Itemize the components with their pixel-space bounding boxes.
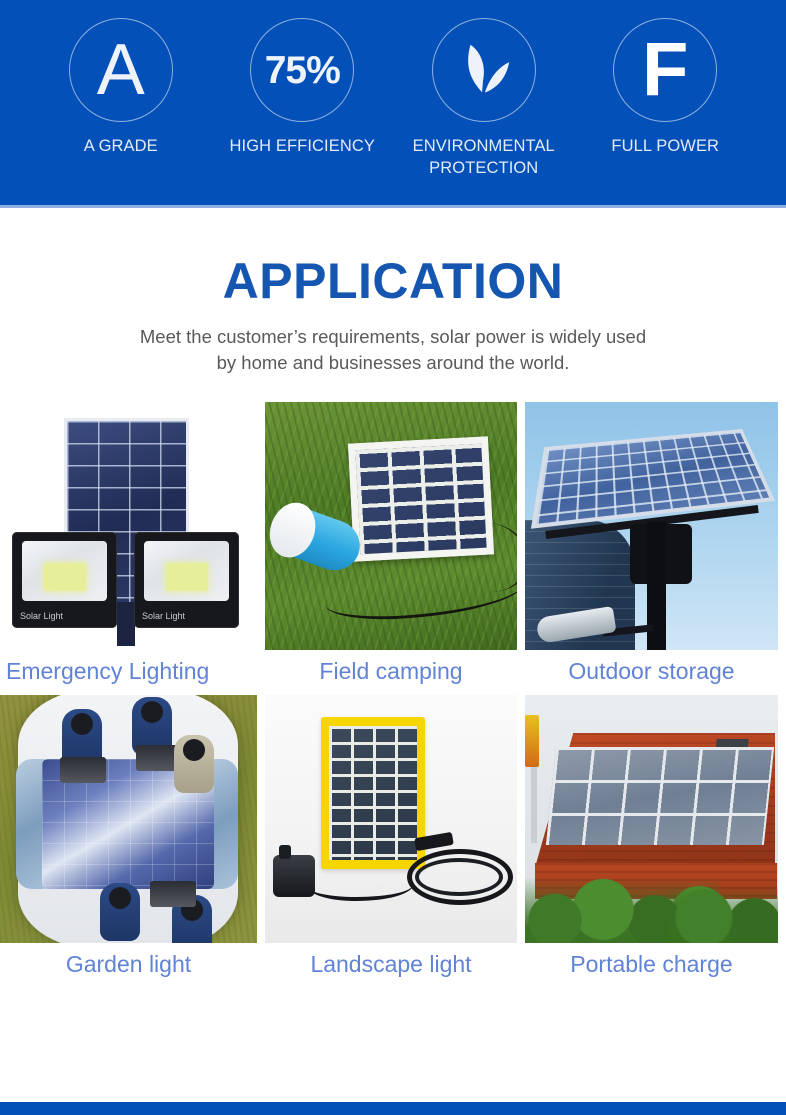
gallery-item-garden-light[interactable]: Garden light	[0, 695, 257, 988]
laptop-graphic-3	[150, 881, 196, 907]
feature-circle-a-grade: A	[69, 18, 173, 122]
floodlight-label-left: Solar Light	[20, 611, 63, 621]
feature-label-full-power: FULL POWER	[611, 135, 719, 157]
feature-item-full-power: F FULL POWER	[575, 18, 757, 157]
feature-item-a-grade: A A GRADE	[30, 18, 212, 157]
feature-banner: A A GRADE 75% HIGH EFFICIENCY ENVIRONMEN…	[0, 0, 786, 205]
photo-portable-charge	[525, 695, 778, 943]
letter-a-icon: A	[97, 34, 145, 106]
gallery-item-portable-charge[interactable]: Portable charge	[525, 695, 778, 988]
photo-landscape-light	[265, 695, 517, 943]
feature-item-environmental-protection: ENVIRONMENTAL PROTECTION	[393, 18, 575, 180]
bottom-accent-bar	[0, 1102, 786, 1115]
panel-stand-graphic	[117, 602, 135, 646]
floodlight-right-graphic: Solar Light	[134, 532, 239, 628]
laptop-graphic-1	[60, 757, 106, 783]
gallery-row-2: Garden light Landscape light	[0, 695, 786, 988]
gallery-item-landscape-light[interactable]: Landscape light	[265, 695, 517, 988]
application-gallery: Solar Light Solar Light Emergency Lighti…	[0, 402, 786, 988]
water-pump-graphic	[273, 855, 315, 897]
feature-item-high-efficiency: 75% HIGH EFFICIENCY	[212, 18, 394, 157]
caption-field-camping: Field camping	[265, 650, 517, 695]
person-graphic-4	[100, 883, 140, 941]
photo-garden-light	[0, 695, 257, 943]
floodlight-left-graphic: Solar Light	[12, 532, 117, 628]
floodlight-label-right: Solar Light	[142, 611, 185, 621]
caption-portable-charge: Portable charge	[525, 943, 778, 988]
caption-landscape-light: Landscape light	[265, 943, 517, 988]
roof-solar-panels-graphic	[546, 747, 774, 845]
solar-panel-graphic	[348, 436, 494, 561]
bush-graphic-right	[668, 885, 778, 943]
caption-garden-light: Garden light	[0, 943, 257, 988]
photo-field-camping	[265, 402, 517, 650]
person-graphic-3	[174, 735, 214, 793]
photo-outdoor-storage	[525, 402, 778, 650]
feature-circle-full-power: F	[613, 18, 717, 122]
feature-label-high-efficiency: HIGH EFFICIENCY	[230, 135, 375, 157]
letter-f-icon: F	[642, 32, 688, 108]
feature-circle-environmental-protection	[432, 18, 536, 122]
gallery-row-1: Solar Light Solar Light Emergency Lighti…	[0, 402, 786, 695]
caption-outdoor-storage: Outdoor storage	[525, 650, 778, 695]
gallery-item-outdoor-storage[interactable]: Outdoor storage	[525, 402, 778, 695]
feature-label-environmental-protection: ENVIRONMENTAL PROTECTION	[401, 135, 566, 180]
percent-75-icon: 75%	[265, 51, 340, 90]
gallery-item-field-camping[interactable]: Field camping	[265, 402, 517, 695]
cable-coil-inner-graphic	[415, 858, 503, 896]
page-subtitle: Meet the customer’s requirements, solar …	[128, 324, 658, 377]
feature-label-a-grade: A GRADE	[84, 135, 158, 157]
leaf-icon	[453, 37, 515, 104]
application-section: APPLICATION Meet the customer’s requirem…	[0, 208, 786, 377]
cable-graphic	[309, 871, 413, 901]
flag-graphic	[525, 715, 539, 767]
feature-circle-high-efficiency: 75%	[250, 18, 354, 122]
photo-emergency-lighting: Solar Light Solar Light	[0, 402, 257, 650]
cable-graphic-2	[324, 563, 517, 624]
caption-emergency-lighting: Emergency Lighting	[0, 650, 257, 695]
solar-panel-graphic	[321, 717, 425, 869]
page-title: APPLICATION	[0, 256, 786, 306]
gallery-item-emergency-lighting[interactable]: Solar Light Solar Light Emergency Lighti…	[0, 402, 257, 695]
